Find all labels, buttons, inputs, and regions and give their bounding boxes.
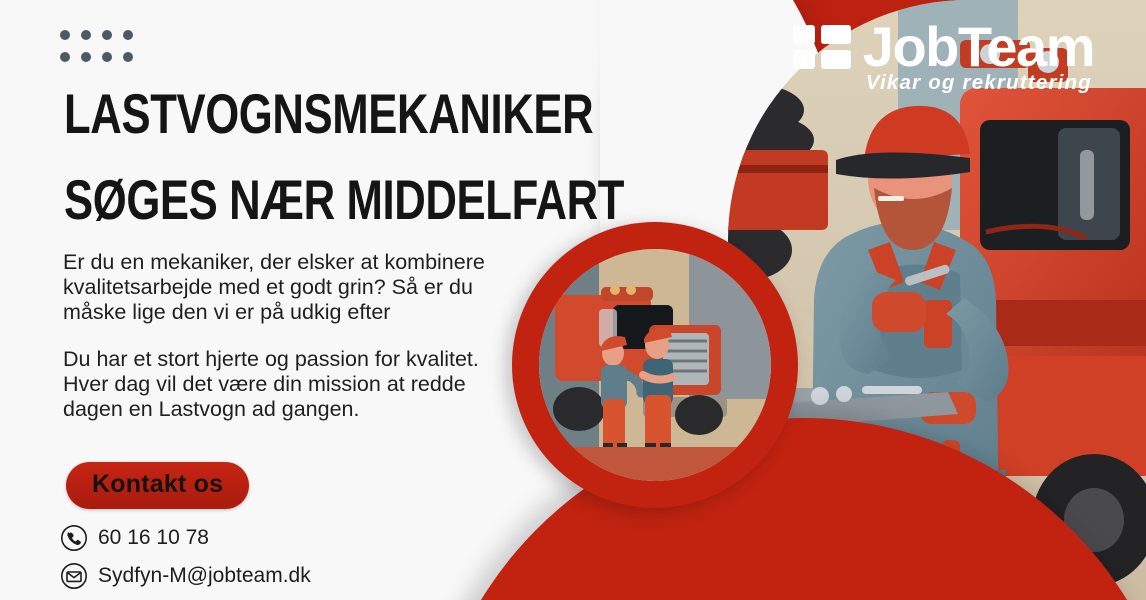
- decorative-dot-grid-top: [60, 30, 133, 62]
- body-paragraph-1: Er du en mekaniker, der elsker at kombin…: [63, 250, 523, 325]
- envelope-circle-icon: [60, 562, 88, 590]
- job-advert-poster: JobTeam Vikar og rekruttering LASTVOGNSM…: [0, 0, 1146, 600]
- contact-row-phone[interactable]: 60 16 10 78: [60, 524, 311, 552]
- email-address: Sydfyn-M@jobteam.dk: [98, 565, 311, 588]
- phone-number: 60 16 10 78: [98, 527, 209, 550]
- body-paragraph-2: Du har et stort hjerte og passion for kv…: [63, 347, 523, 422]
- logo-main-row: JobTeam: [793, 20, 1094, 73]
- headline-line-2: SØGES NÆR MIDDELFART: [64, 172, 431, 228]
- logo-wordmark: JobTeam: [863, 20, 1094, 73]
- logo-mark-cell-4: [821, 50, 851, 69]
- danish-flag-grid-icon: [793, 25, 851, 69]
- contact-us-button[interactable]: Kontakt os: [66, 462, 249, 509]
- contact-row-email[interactable]: Sydfyn-M@jobteam.dk: [60, 562, 311, 590]
- logo-tagline: Vikar og rekruttering: [866, 71, 1092, 95]
- logo-mark-cell-2: [821, 25, 851, 44]
- phone-circle-icon: [60, 524, 88, 552]
- logo-mark-cell-1: [793, 25, 815, 44]
- contact-details: 60 16 10 78 Sydfyn-M@jobteam.dk: [60, 524, 311, 600]
- left-content-panel: LASTVOGNSMEKANIKER SØGES NÆR MIDDELFART …: [0, 0, 640, 600]
- body-copy: Er du en mekaniker, der elsker at kombin…: [63, 250, 523, 422]
- jobteam-logo[interactable]: JobTeam Vikar og rekruttering: [793, 20, 1094, 95]
- dot: [102, 30, 112, 40]
- headline-line-1: LASTVOGNSMEKANIKER: [64, 86, 431, 142]
- dot: [60, 52, 70, 62]
- dot: [60, 30, 70, 40]
- dot: [102, 52, 112, 62]
- logo-mark-cell-3: [793, 50, 815, 69]
- cta-container: Kontakt os: [66, 462, 249, 509]
- page-title: LASTVOGNSMEKANIKER SØGES NÆR MIDDELFART: [64, 86, 534, 228]
- dot: [81, 30, 91, 40]
- dot: [81, 52, 91, 62]
- dot: [123, 52, 133, 62]
- dot: [123, 30, 133, 40]
